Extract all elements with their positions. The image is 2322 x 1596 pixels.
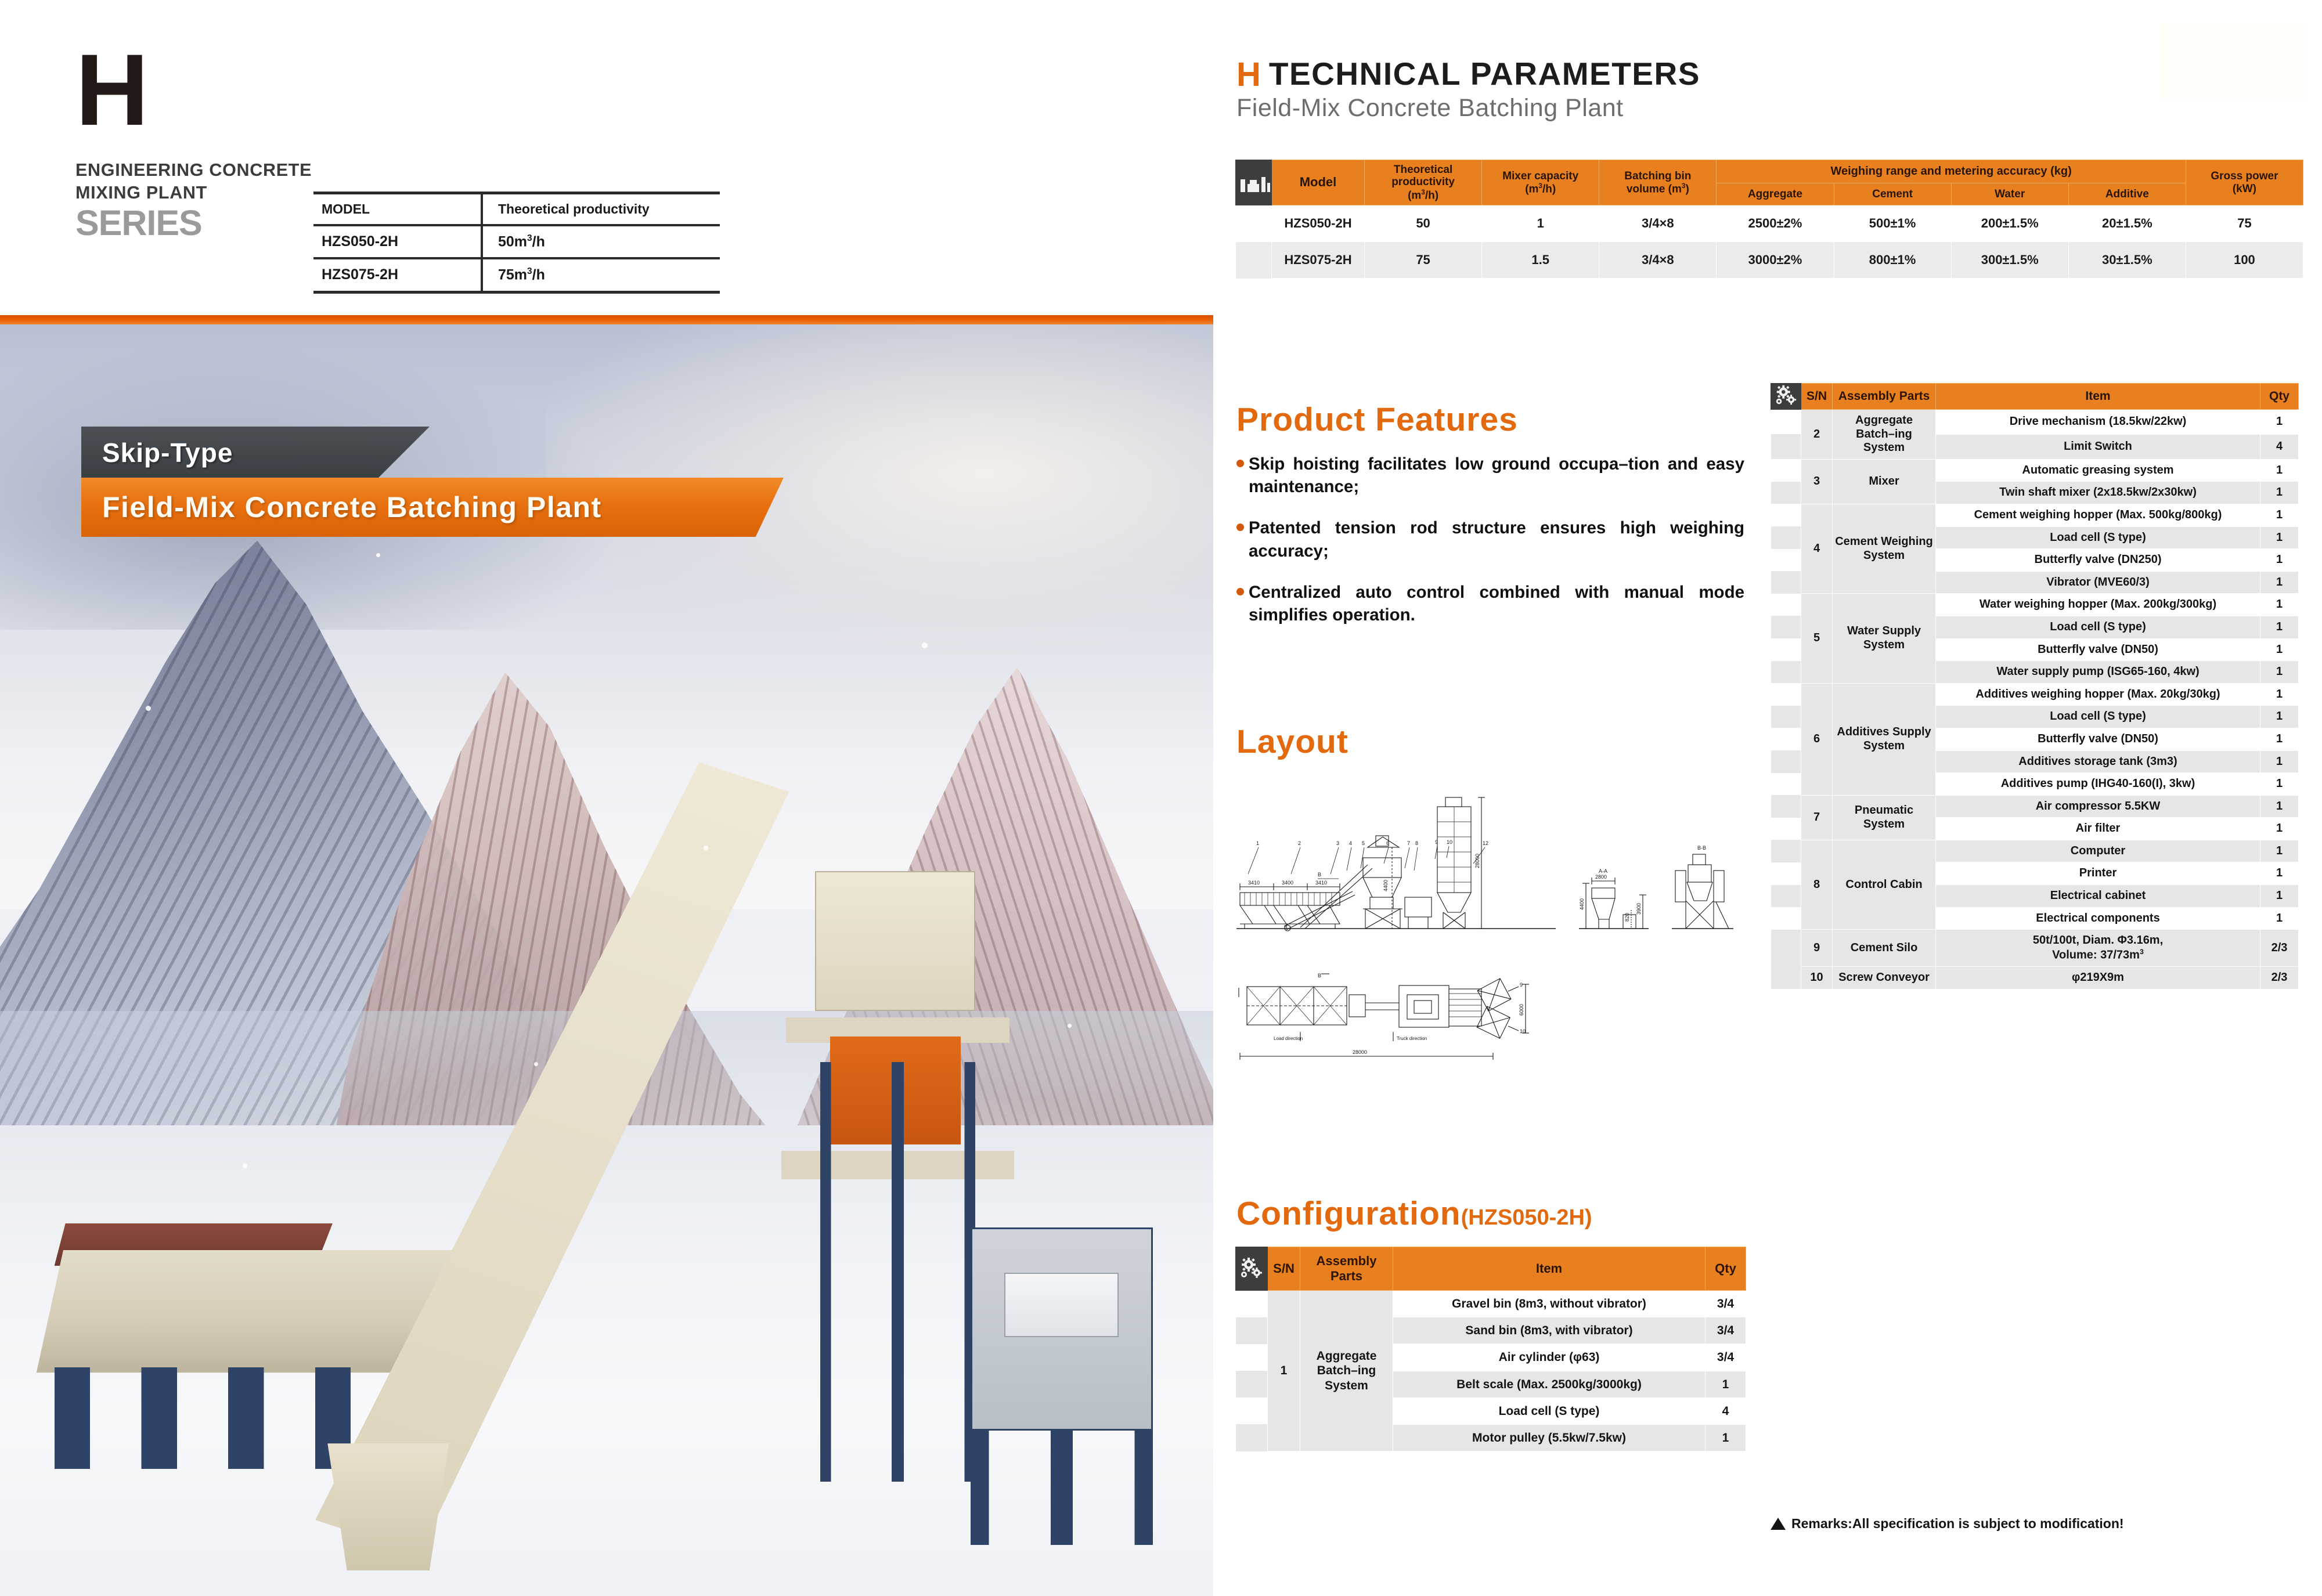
- row-spacer: [1236, 205, 1272, 242]
- table-row: HZS075-2H 75 1.5 3/4×8 3000±2% 800±1% 30…: [1236, 242, 2303, 279]
- model-productivity-table: MODEL Theoretical productivity HZS050-2H…: [313, 192, 720, 294]
- row-pad: [1771, 773, 1801, 796]
- configuration-model-label: (HZS050-2H): [1461, 1205, 1592, 1230]
- cell-assembly: Screw Conveyor: [1833, 967, 1936, 990]
- table-row: HZS075-2H 75m3/h: [313, 258, 720, 292]
- row-pad: [1771, 750, 1801, 773]
- cell-item: Gravel bin (8m3, without vibrator): [1393, 1291, 1706, 1317]
- parts-table-wrap: S/N Assembly Parts Item Qty 2 Aggregate …: [1771, 383, 2299, 990]
- cell-qty: 1: [2260, 728, 2299, 750]
- cell-gross-power: 100: [2186, 242, 2303, 279]
- cell-sn: 1: [1268, 1291, 1300, 1451]
- cell-gross-power: 75: [2186, 205, 2303, 242]
- cell-model: HZS050-2H: [1272, 205, 1365, 242]
- cell-item: Motor pulley (5.5kw/7.5kw): [1393, 1424, 1706, 1451]
- cell-aggregate: 2500±2%: [1717, 205, 1834, 242]
- configuration-heading: Configuration(HZS050-2H): [1236, 1194, 1592, 1233]
- cell-model: HZS075-2H: [1272, 242, 1365, 279]
- row-pad: [1771, 661, 1801, 684]
- cell-productivity: 75: [1365, 242, 1482, 279]
- cell-additive: 20±1.5%: [2068, 205, 2186, 242]
- cell-sn: 9: [1801, 930, 1833, 967]
- gears-icon-svg: [1774, 384, 1798, 408]
- cell-item: Drive mechanism (18.5kw/22kw): [1936, 410, 2260, 435]
- model-value: HZS075-2H: [313, 258, 482, 292]
- cell-item: Twin shaft mixer (2x18.5kw/2x30kw): [1936, 482, 2260, 504]
- cell-qty: 1: [2260, 549, 2299, 572]
- tp-title-text: TECHNICAL PARAMETERS: [1269, 55, 1700, 92]
- cell-item: Limit Switch: [1936, 434, 2260, 459]
- photo-cabin-legs: [971, 1431, 1153, 1545]
- col-qty: Qty: [1706, 1247, 1746, 1291]
- cell-qty: 1: [2260, 840, 2299, 862]
- table-row: HZS050-2H 50 1 3/4×8 2500±2% 500±1% 200±…: [1236, 205, 2303, 242]
- svg-text:6000: 6000: [1519, 1004, 1524, 1016]
- svg-text:4: 4: [1349, 840, 1352, 846]
- cell-qty: 1: [2260, 773, 2299, 796]
- configuration-table: S/N Assembly Parts Item Qty 1 Aggregate …: [1235, 1247, 1746, 1451]
- cell-sn: 8: [1801, 840, 1833, 929]
- svg-text:28000: 28000: [1353, 1049, 1367, 1055]
- cell-sn: 4: [1801, 504, 1833, 593]
- col-batching-bin-volume: Batching binvolume (m3): [1599, 160, 1717, 205]
- cell-qty: 1: [2260, 638, 2299, 661]
- gears-icon: [1236, 1247, 1268, 1291]
- row-pad: [1771, 571, 1801, 594]
- cell-qty: 1: [2260, 818, 2299, 840]
- col-theoretical-productivity: Theoreticalproductivity(m3/h): [1365, 160, 1482, 205]
- table-row: MODEL Theoretical productivity: [313, 193, 720, 226]
- cell-item: Load cell (S type): [1393, 1398, 1706, 1424]
- parts-table-body: 2 Aggregate Batch–ing System Drive mecha…: [1771, 410, 2299, 990]
- cell-item: 50t/100t, Diam. Φ3.16m,Volume: 37/73m3: [1936, 930, 2260, 967]
- cell-aggregate: 3000±2%: [1717, 242, 1834, 279]
- layout-drawing-svg: 3410 3400 3410: [1231, 754, 1741, 1103]
- cell-item: Additives storage tank (3m3): [1936, 750, 2260, 773]
- row-pad: [1771, 526, 1801, 549]
- svg-text:9: 9: [1435, 839, 1438, 845]
- svg-text:1: 1: [1256, 840, 1259, 846]
- table-header-row: S/N Assembly Parts Item Qty: [1771, 384, 2299, 410]
- model-value: HZS050-2H: [313, 225, 482, 258]
- cell-assembly: Pneumatic System: [1833, 795, 1936, 840]
- warning-triangle-icon: [1771, 1518, 1786, 1530]
- photo-skip-bucket: [327, 1443, 449, 1570]
- remarks-note: Remarks:All specification is subject to …: [1771, 1516, 2124, 1532]
- technical-parameters-table-wrap: Model Theoreticalproductivity(m3/h) Mixe…: [1235, 160, 2303, 279]
- bullet-dot-icon: [1236, 460, 1244, 467]
- product-features-list: Skip hoisting facilitates low ground occ…: [1236, 453, 1744, 645]
- cell-qty: 1: [2260, 410, 2299, 435]
- cell-assembly: Mixer: [1833, 459, 1936, 504]
- cell-qty: 3/4: [1706, 1291, 1746, 1317]
- svg-text:B: B: [1318, 973, 1321, 978]
- banner-skip-type: Skip-Type: [81, 427, 430, 479]
- col-additive: Additive: [2068, 183, 2186, 205]
- brand-block: H ENGINEERING CONCRETE MIXING PLANT SERI…: [75, 44, 319, 241]
- svg-text:5: 5: [1362, 840, 1365, 846]
- svg-text:3: 3: [1336, 840, 1339, 846]
- cell-assembly: Cement Weighing System: [1833, 504, 1936, 593]
- svg-text:3410: 3410: [1315, 880, 1327, 886]
- product-type-banner: Skip-Type Field-Mix Concrete Batching Pl…: [81, 427, 853, 537]
- col-sn: S/N: [1801, 384, 1833, 410]
- cell-qty: 1: [2260, 482, 2299, 504]
- col-assembly-parts: Assembly Parts: [1833, 384, 1936, 410]
- svg-text:7: 7: [1407, 840, 1410, 846]
- cell-assembly: Water Supply System: [1833, 594, 1936, 683]
- cell-sn: 5: [1801, 594, 1833, 683]
- cell-item: Computer: [1936, 840, 2260, 862]
- svg-text:A-A: A-A: [1599, 868, 1607, 874]
- photo-cabin-window: [1004, 1273, 1119, 1337]
- svg-text:Truck direction: Truck direction: [1397, 1036, 1427, 1041]
- cell-additive: 30±1.5%: [2068, 242, 2186, 279]
- cell-assembly: Aggregate Batch–ing System: [1300, 1291, 1393, 1451]
- table-row: 10 Screw Conveyor φ219X9m 2/3: [1771, 967, 2299, 990]
- row-pad: [1771, 967, 1801, 990]
- corner-watermark: [2159, 23, 2305, 99]
- table-row: 1 Aggregate Batch–ing System Gravel bin …: [1236, 1291, 1746, 1317]
- row-pad: [1771, 410, 1801, 435]
- col-sn: S/N: [1268, 1247, 1300, 1291]
- row-pad: [1771, 638, 1801, 661]
- col-weighing-group: Weighing range and metering accuracy (kg…: [1717, 160, 2186, 183]
- row-pad: [1771, 728, 1801, 750]
- gears-icon: [1771, 384, 1801, 410]
- row-pad: [1771, 840, 1801, 862]
- cell-item: Electrical cabinet: [1936, 885, 2260, 908]
- col-assembly-parts: Assembly Parts: [1300, 1247, 1393, 1291]
- svg-text:820: 820: [1624, 913, 1630, 922]
- cell-assembly: Control Cabin: [1833, 840, 1936, 929]
- svg-text:2: 2: [1298, 840, 1301, 846]
- list-item: Centralized auto control combined with m…: [1236, 581, 1744, 626]
- svg-text:4400: 4400: [1383, 880, 1389, 891]
- cell-item: Printer: [1936, 862, 2260, 885]
- col-item: Item: [1393, 1247, 1706, 1291]
- cell-qty: 4: [1706, 1398, 1746, 1424]
- cell-water: 300±1.5%: [1951, 242, 2068, 279]
- svg-text:12: 12: [1483, 840, 1488, 846]
- table-row: 7 Pneumatic System Air compressor 5.5KW …: [1771, 795, 2299, 818]
- row-pad: [1771, 885, 1801, 908]
- cell-item: Air cylinder (φ63): [1393, 1344, 1706, 1371]
- cell-qty: 1: [2260, 885, 2299, 908]
- cell-item: Load cell (S type): [1936, 526, 2260, 549]
- cell-qty: 1: [2260, 750, 2299, 773]
- cell-batching-bin: 3/4×8: [1599, 242, 1717, 279]
- table-row: 5 Water Supply System Water weighing hop…: [1771, 594, 2299, 616]
- cell-qty: 1: [2260, 571, 2299, 594]
- cell-qty: 3/4: [1706, 1317, 1746, 1344]
- cell-qty: 2/3: [2260, 930, 2299, 967]
- feature-text: Skip hoisting facilitates low ground occ…: [1249, 453, 1744, 498]
- cell-qty: 1: [2260, 616, 2299, 638]
- cell-item: Automatic greasing system: [1936, 459, 2260, 482]
- left-column: H ENGINEERING CONCRETE MIXING PLANT SERI…: [0, 0, 1213, 1596]
- brochure-page: H ENGINEERING CONCRETE MIXING PLANT SERI…: [0, 0, 2322, 1596]
- cell-item: Water supply pump (ISG65-160, 4kw): [1936, 661, 2260, 684]
- table-row: 2 Aggregate Batch–ing System Drive mecha…: [1771, 410, 2299, 435]
- row-pad: [1236, 1317, 1268, 1344]
- product-features-heading: Product Features: [1236, 400, 1518, 439]
- cell-cement: 500±1%: [1834, 205, 1951, 242]
- banner-product-name-label: Field-Mix Concrete Batching Plant: [81, 490, 602, 524]
- cell-qty: 1: [2260, 459, 2299, 482]
- cell-qty: 1: [1706, 1424, 1746, 1451]
- cell-item: Load cell (S type): [1936, 706, 2260, 728]
- right-column: HTECHNICAL PARAMETERS Field-Mix Concrete…: [1213, 0, 2322, 1596]
- photo-tower-silo-box: [815, 871, 975, 1011]
- row-pad: [1771, 818, 1801, 840]
- table-header-row: Model Theoreticalproductivity(m3/h) Mixe…: [1236, 160, 2303, 183]
- cell-item: Electrical components: [1936, 907, 2260, 930]
- cell-item: φ219X9m: [1936, 967, 2260, 990]
- table-row: 9 Cement Silo 50t/100t, Diam. Φ3.16m,Vol…: [1771, 930, 2299, 967]
- cell-qty: 1: [2260, 661, 2299, 684]
- row-pad: [1771, 907, 1801, 930]
- cell-qty: 1: [2260, 594, 2299, 616]
- cell-qty: 1: [2260, 683, 2299, 706]
- cell-item: Air filter: [1936, 818, 2260, 840]
- svg-text:Load direction: Load direction: [1274, 1036, 1303, 1041]
- cell-sn: 10: [1801, 967, 1833, 990]
- row-pad: [1771, 504, 1801, 526]
- model-col-header: MODEL: [313, 193, 482, 226]
- row-pad: [1236, 1424, 1268, 1451]
- col-item: Item: [1936, 384, 2260, 410]
- row-pad: [1771, 482, 1801, 504]
- col-mixer-capacity: Mixer capacity(m3/h): [1482, 160, 1599, 205]
- cell-item: Water weighing hopper (Max. 200kg/300kg): [1936, 594, 2260, 616]
- photo-snow-fleck: [534, 1062, 538, 1066]
- svg-text:10: 10: [1447, 839, 1452, 845]
- cell-qty: 1: [2260, 795, 2299, 818]
- layout-drawing: 3410 3400 3410: [1231, 754, 1741, 1103]
- cell-sn: 7: [1801, 795, 1833, 840]
- col-gross-power: Gross power(kW): [2186, 160, 2303, 205]
- cell-qty: 1: [2260, 526, 2299, 549]
- cell-cement: 800±1%: [1834, 242, 1951, 279]
- cell-item: Sand bin (8m3, with vibrator): [1393, 1317, 1706, 1344]
- productivity-value: 50m3/h: [482, 225, 720, 258]
- row-pad: [1771, 930, 1801, 967]
- table-row: 8 Control Cabin Computer 1: [1771, 840, 2299, 862]
- row-pad: [1236, 1371, 1268, 1398]
- cell-mixer-capacity: 1.5: [1482, 242, 1599, 279]
- svg-text:3900: 3900: [1636, 903, 1642, 915]
- plant-icon: [1236, 160, 1272, 205]
- row-pad: [1236, 1398, 1268, 1424]
- cell-qty: 1: [2260, 907, 2299, 930]
- row-pad: [1771, 683, 1801, 706]
- technical-parameters-subtitle: Field-Mix Concrete Batching Plant: [1236, 94, 1624, 122]
- table-row: 3 Mixer Automatic greasing system 1: [1771, 459, 2299, 482]
- list-item: Patented tension rod structure ensures h…: [1236, 517, 1744, 562]
- svg-text:9: 9: [1520, 982, 1523, 988]
- cell-qty: 1: [1706, 1371, 1746, 1398]
- configuration-heading-text: Configuration: [1236, 1195, 1461, 1232]
- cell-qty: 1: [2260, 706, 2299, 728]
- cell-item: Load cell (S type): [1936, 616, 2260, 638]
- brand-subtitle-line1: ENGINEERING CONCRETE: [75, 159, 319, 182]
- cell-item: Butterfly valve (DN50): [1936, 638, 2260, 661]
- cell-assembly: Aggregate Batch–ing System: [1833, 410, 1936, 460]
- brand-subtitle-line2: MIXING PLANT: [75, 182, 319, 204]
- row-pad: [1771, 616, 1801, 638]
- table-header-row: S/N Assembly Parts Item Qty: [1236, 1247, 1746, 1291]
- configuration-table-wrap: S/N Assembly Parts Item Qty 1 Aggregate …: [1235, 1247, 1746, 1451]
- row-pad: [1771, 706, 1801, 728]
- feature-text: Centralized auto control combined with m…: [1249, 581, 1744, 626]
- brand-letter: H: [75, 44, 319, 137]
- cell-sn: 6: [1801, 683, 1833, 795]
- cell-qty: 2/3: [2260, 967, 2299, 990]
- svg-text:B-B: B-B: [1697, 845, 1706, 851]
- row-pad: [1771, 434, 1801, 459]
- row-pad: [1771, 459, 1801, 482]
- remarks-text: Remarks:All specification is subject to …: [1791, 1516, 2124, 1532]
- tp-h-glyph: H: [1236, 55, 1261, 94]
- row-pad: [1771, 795, 1801, 818]
- table-row: 6 Additives Supply System Additives weig…: [1771, 683, 2299, 706]
- gears-icon-svg: [1239, 1256, 1264, 1281]
- productivity-value: 75m3/h: [482, 258, 720, 292]
- cell-item: Additives weighing hopper (Max. 20kg/30k…: [1936, 683, 2260, 706]
- cell-assembly: Additives Supply System: [1833, 683, 1936, 795]
- cell-sn: 3: [1801, 459, 1833, 504]
- svg-text:3410: 3410: [1248, 880, 1260, 886]
- cell-qty: 1: [2260, 862, 2299, 885]
- col-water: Water: [1951, 183, 2068, 205]
- productivity-col-header: Theoretical productivity: [482, 193, 720, 226]
- cell-item: Cement weighing hopper (Max. 500kg/800kg…: [1936, 504, 2260, 526]
- parts-table: S/N Assembly Parts Item Qty 2 Aggregate …: [1771, 383, 2299, 990]
- row-pad: [1771, 549, 1801, 572]
- col-cement: Cement: [1834, 183, 1951, 205]
- cell-qty: 4: [2260, 434, 2299, 459]
- cell-water: 200±1.5%: [1951, 205, 2068, 242]
- technical-parameters-table: Model Theoreticalproductivity(m3/h) Mixe…: [1235, 160, 2303, 279]
- bullet-dot-icon: [1236, 523, 1244, 531]
- cell-item: Butterfly valve (DN50): [1936, 728, 2260, 750]
- cell-item: Vibrator (MVE60/3): [1936, 571, 2260, 594]
- col-aggregate: Aggregate: [1717, 183, 1834, 205]
- cell-item: Air compressor 5.5KW: [1936, 795, 2260, 818]
- cell-item: Butterfly valve (DN250): [1936, 549, 2260, 572]
- technical-parameters-title: HTECHNICAL PARAMETERS: [1236, 55, 1700, 94]
- banner-skip-type-label: Skip-Type: [81, 437, 233, 468]
- cell-productivity: 50: [1365, 205, 1482, 242]
- svg-text:2800: 2800: [1595, 874, 1607, 880]
- row-pad: [1236, 1291, 1268, 1317]
- svg-text:3400: 3400: [1282, 880, 1293, 886]
- svg-text:6: 6: [1386, 840, 1389, 846]
- cell-item: Additives pump (IHG40-160(I), 3kw): [1936, 773, 2260, 796]
- row-pad: [1771, 594, 1801, 616]
- cell-mixer-capacity: 1: [1482, 205, 1599, 242]
- cell-qty: 1: [2260, 504, 2299, 526]
- cell-item: Belt scale (Max. 2500kg/3000kg): [1393, 1371, 1706, 1398]
- col-qty: Qty: [2260, 384, 2299, 410]
- cell-sn: 2: [1801, 410, 1833, 460]
- brand-subtitle: ENGINEERING CONCRETE MIXING PLANT: [75, 159, 319, 204]
- photo-snow-fleck: [243, 1164, 247, 1168]
- row-pad: [1771, 862, 1801, 885]
- brand-series: SERIES: [75, 205, 319, 241]
- svg-text:8: 8: [1415, 840, 1418, 846]
- table-row: HZS050-2H 50m3/h: [313, 225, 720, 258]
- orange-divider-rule: [0, 315, 1213, 324]
- bullet-dot-icon: [1236, 588, 1244, 595]
- feature-text: Patented tension rod structure ensures h…: [1249, 517, 1744, 562]
- photo-control-cabin: [971, 1227, 1153, 1431]
- list-item: Skip hoisting facilitates low ground occ…: [1236, 453, 1744, 498]
- cell-assembly: Cement Silo: [1833, 930, 1936, 967]
- cell-qty: 3/4: [1706, 1344, 1746, 1371]
- photo-tower-steel-frame: [820, 1062, 976, 1482]
- row-spacer: [1236, 242, 1272, 279]
- row-pad: [1236, 1344, 1268, 1371]
- cell-batching-bin: 3/4×8: [1599, 205, 1717, 242]
- table-row: 4 Cement Weighing System Cement weighing…: [1771, 504, 2299, 526]
- svg-text:4400: 4400: [1579, 898, 1585, 910]
- banner-product-name: Field-Mix Concrete Batching Plant: [81, 478, 784, 537]
- svg-text:B: B: [1318, 872, 1321, 878]
- col-model: Model: [1272, 160, 1365, 205]
